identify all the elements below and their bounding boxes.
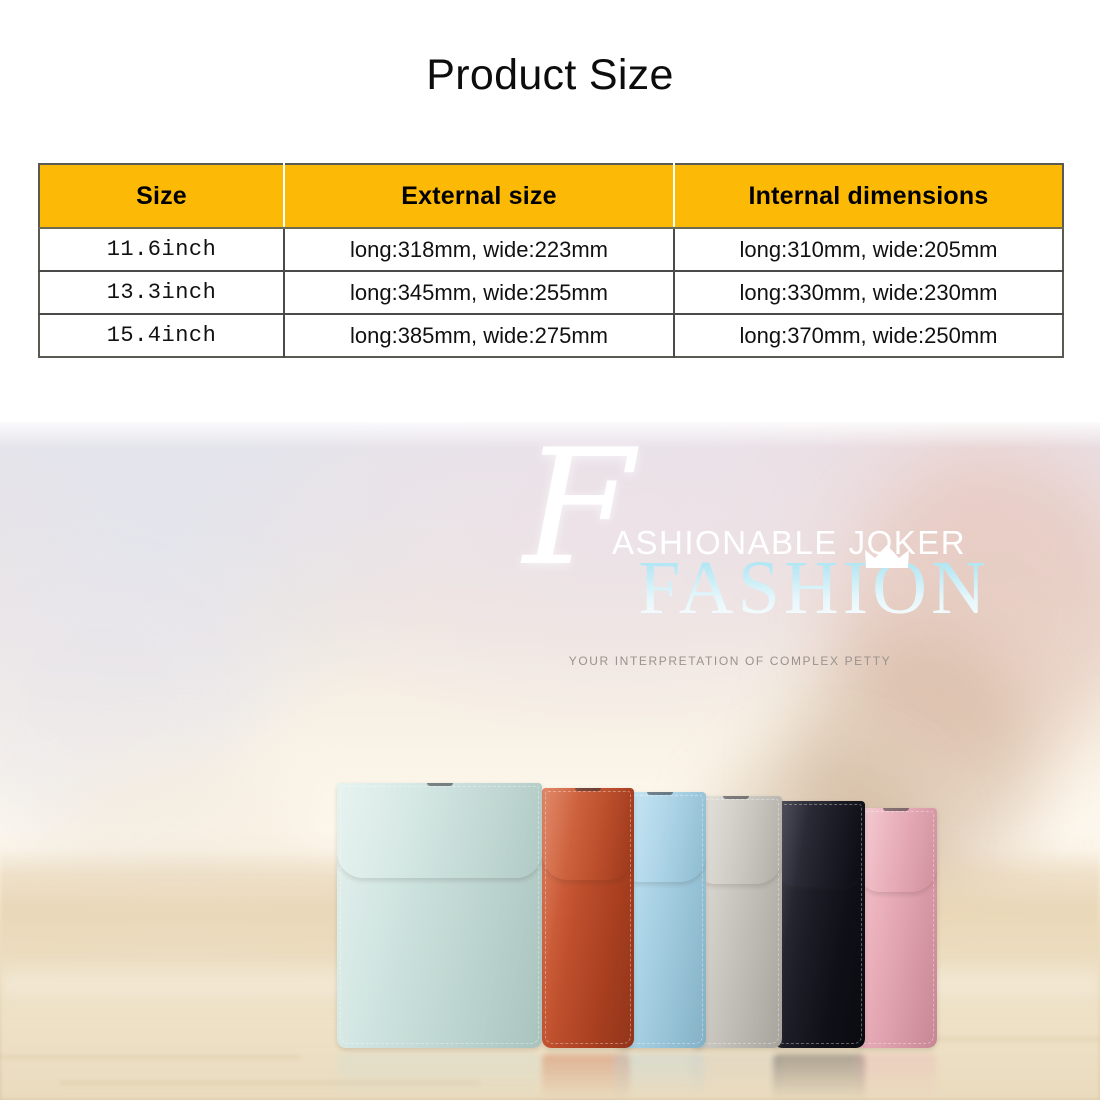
product-hero-photo: F ASHIONABLE JOKER FASHION YOUR INTERPRE… bbox=[0, 422, 1100, 1100]
product-size-table-container: Size External size Internal dimensions 1… bbox=[38, 163, 1062, 358]
sleeve-pink[interactable] bbox=[855, 808, 937, 1048]
column-header-internal-dimensions: Internal dimensions bbox=[674, 164, 1063, 228]
column-header-external-size: External size bbox=[284, 164, 674, 228]
column-header-size: Size bbox=[39, 164, 284, 228]
sleeve-reflection bbox=[337, 1054, 542, 1100]
cell-internal: long:310mm, wide:205mm bbox=[674, 228, 1063, 271]
sleeve-sheen bbox=[773, 801, 865, 1048]
product-size-page: Product Size Size External size Internal… bbox=[0, 0, 1100, 1100]
cell-external: long:345mm, wide:255mm bbox=[284, 271, 674, 314]
table-row: 11.6inch long:318mm, wide:223mm long:310… bbox=[39, 228, 1063, 271]
table-header-row: Size External size Internal dimensions bbox=[39, 164, 1063, 228]
page-title: Product Size bbox=[0, 52, 1100, 99]
cell-internal: long:370mm, wide:250mm bbox=[674, 314, 1063, 357]
sleeve-mint-green[interactable] bbox=[337, 783, 542, 1048]
sleeve-sheen bbox=[542, 788, 634, 1048]
cell-external: long:318mm, wide:223mm bbox=[284, 228, 674, 271]
product-size-table: Size External size Internal dimensions 1… bbox=[38, 163, 1064, 358]
product-sleeve-row bbox=[0, 422, 1100, 1100]
table-row: 13.3inch long:345mm, wide:255mm long:330… bbox=[39, 271, 1063, 314]
sleeve-sheen bbox=[337, 783, 542, 1048]
sleeve-reflection bbox=[690, 1054, 782, 1100]
cell-internal: long:330mm, wide:230mm bbox=[674, 271, 1063, 314]
cell-external: long:385mm, wide:275mm bbox=[284, 314, 674, 357]
cell-size: 13.3inch bbox=[39, 271, 284, 314]
sleeve-orange-brown[interactable] bbox=[542, 788, 634, 1048]
cell-size: 11.6inch bbox=[39, 228, 284, 271]
table-row: 15.4inch long:385mm, wide:275mm long:370… bbox=[39, 314, 1063, 357]
sleeve-reflection bbox=[773, 1054, 865, 1100]
cell-size: 15.4inch bbox=[39, 314, 284, 357]
sleeve-reflection bbox=[855, 1054, 937, 1100]
sleeve-black[interactable] bbox=[773, 801, 865, 1048]
sleeve-sheen bbox=[855, 808, 937, 1048]
